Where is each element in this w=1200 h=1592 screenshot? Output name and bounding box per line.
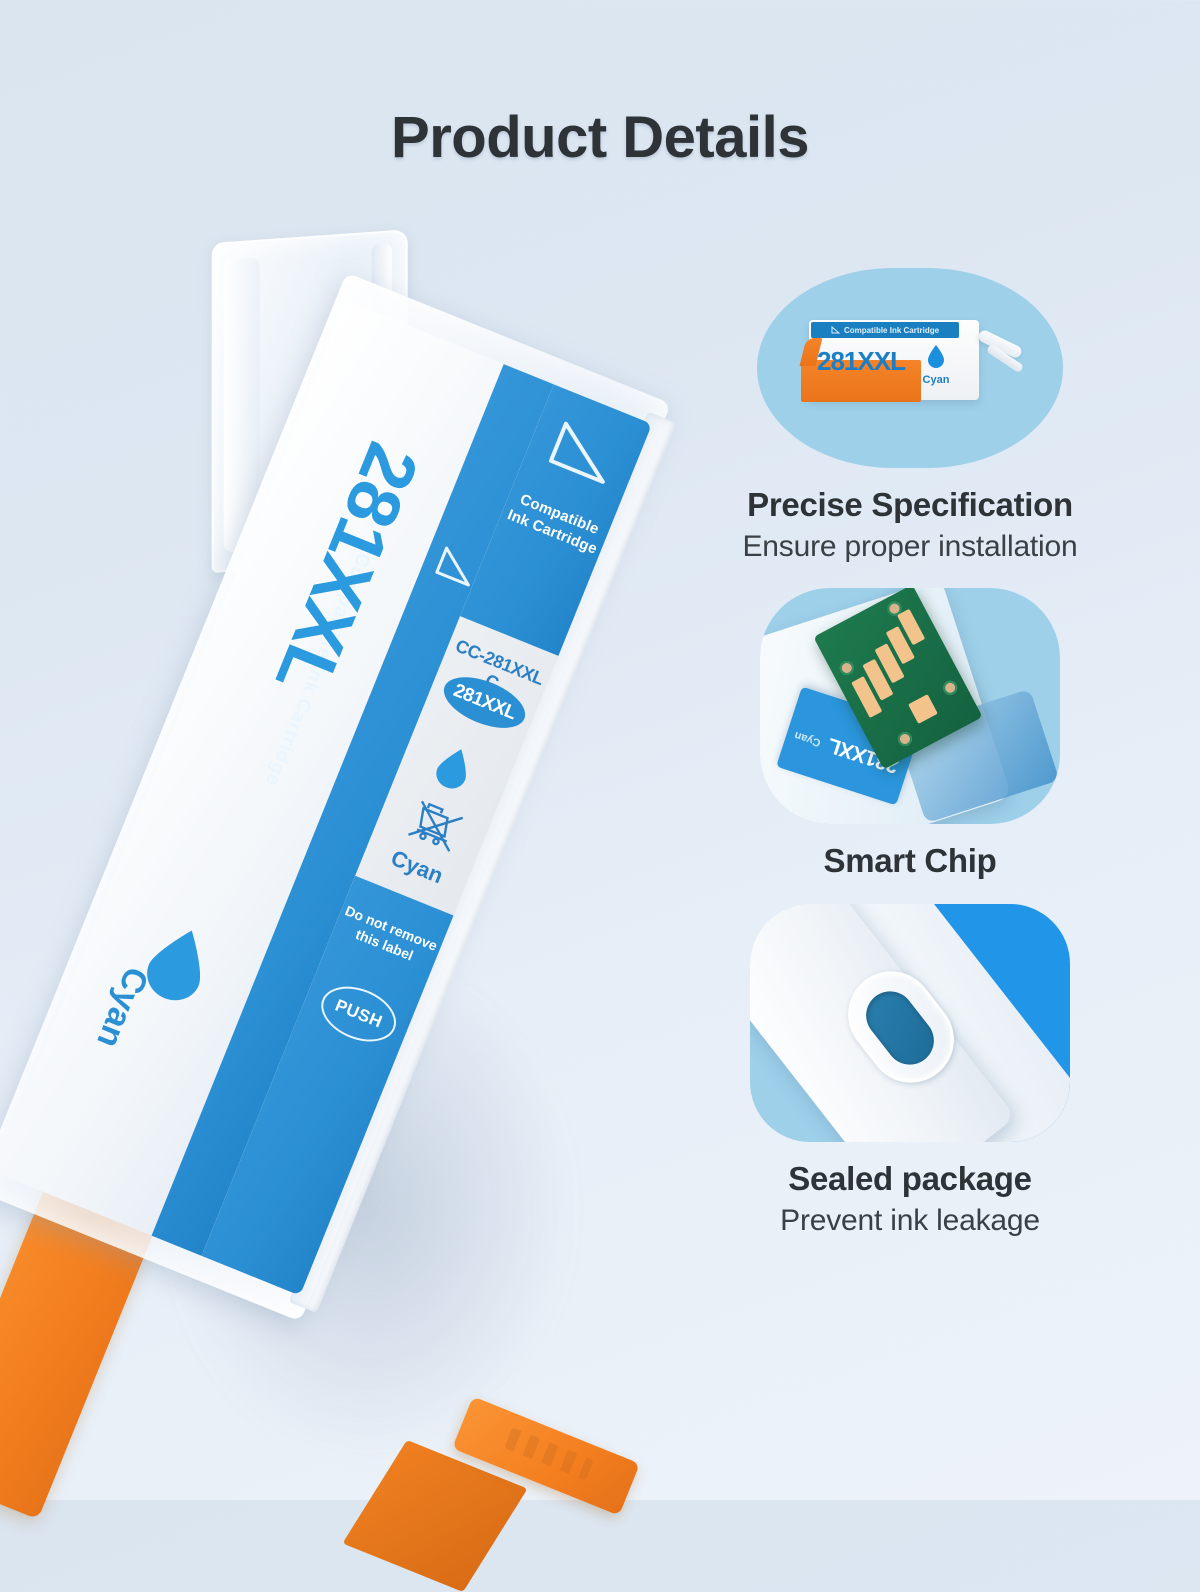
chip-contact-pad — [908, 694, 938, 724]
chip-scene: 281XXL Cyan — [760, 588, 1060, 824]
feature-image-smart-chip: 281XXL Cyan — [760, 588, 1060, 824]
chip-via — [941, 678, 960, 697]
feature-list: Compatible Ink Cartridge 281XXL Cyan Pre… — [660, 268, 1160, 1262]
seal-scene — [750, 904, 1070, 1142]
feature-smart-chip: 281XXL Cyan Smart Chip — [660, 588, 1160, 880]
feature-sealed-package: Sealed package Prevent ink leakage — [660, 904, 1160, 1238]
chip-via — [895, 730, 914, 749]
chip-via — [837, 659, 856, 678]
mini-header-text: Compatible Ink Cartridge — [844, 326, 939, 335]
mini-model-number: 281XXL — [817, 346, 905, 377]
feature-subtitle: Ensure proper installation — [660, 530, 1160, 564]
mini-cartridge-header: Compatible Ink Cartridge — [811, 322, 959, 338]
ink-droplet-icon-mini — [927, 344, 945, 373]
feature-title: Precise Specification — [660, 486, 1160, 524]
mini-cartridge: Compatible Ink Cartridge 281XXL Cyan — [809, 320, 1009, 416]
mini-color-label: Cyan — [913, 374, 959, 386]
feature-precise-specification: Compatible Ink Cartridge 281XXL Cyan Pre… — [660, 268, 1160, 564]
page-title: Product Details — [0, 104, 1200, 171]
feature-title: Sealed package — [660, 1160, 1160, 1198]
feature-image-precise-specification: Compatible Ink Cartridge 281XXL Cyan — [757, 268, 1063, 468]
warning-triangle-icon-mini — [831, 326, 840, 334]
feature-image-sealed-package — [750, 904, 1070, 1142]
hero-product-image: Compatible Ink Cartridge CC-281XXL C 281… — [40, 250, 680, 1430]
chip-label-color: Cyan — [793, 729, 822, 749]
push-label: PUSH — [332, 996, 385, 1033]
feature-subtitle: Prevent ink leakage — [660, 1204, 1160, 1238]
feature-title: Smart Chip — [660, 842, 1160, 880]
